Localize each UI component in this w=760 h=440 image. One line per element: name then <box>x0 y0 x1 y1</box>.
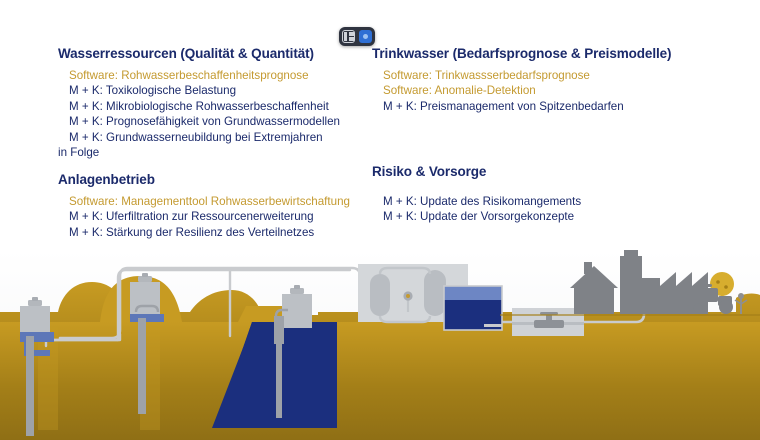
well-shaft <box>276 340 282 418</box>
water-supply-illustration <box>0 250 760 440</box>
list-item: M + K: Uferfiltration zur Ressourcenerwe… <box>69 209 350 224</box>
ground-mid-mass <box>337 322 400 440</box>
list-item: Software: Trinkwassserbedarfsprognose <box>383 68 671 83</box>
list-item: M + K: Stärkung der Resilienz des Vertei… <box>69 225 350 240</box>
list-item: M + K: Toxikologische Belastung <box>69 83 340 98</box>
list-item: M + K: Mikrobiologische Rohwasserbeschaf… <box>69 99 340 114</box>
floating-toolbar[interactable] <box>339 27 375 46</box>
section-title: Anlagenbetrieb <box>58 172 350 187</box>
section-lines: Software: Managementtool Rohwasserbewirt… <box>69 194 350 240</box>
well-riser <box>274 316 284 344</box>
horizon-line <box>500 314 760 316</box>
list-item: M + K: Update der Vorsorgekonzepte <box>383 209 581 224</box>
well-cap-top <box>32 297 38 301</box>
list-item: Software: Rohwasserbeschaffenheitsprogno… <box>69 68 340 83</box>
section-trinkwasser: Trinkwasser (Bedarfsprognose & Preismode… <box>372 46 671 114</box>
list-item: Software: Anomalie-Detektion <box>383 83 671 98</box>
valve-pipe-out <box>564 322 584 325</box>
plant-tank-left <box>370 274 390 316</box>
valve-pipe-in <box>512 322 534 325</box>
list-item: M + K: Grundwasserneubildung bei Extremj… <box>69 130 340 145</box>
list-item: M + K: Preismanagement von Spitzenbedarf… <box>383 99 671 114</box>
screenshot-root: Wasserressourcen (Qualität & Quantität) … <box>0 0 760 440</box>
section-lines: M + K: Update des Risikomangements M + K… <box>383 194 581 225</box>
well-house <box>130 282 160 316</box>
valve-chamber <box>512 308 584 336</box>
list-item: M + K: Update des Risikomangements <box>383 194 581 209</box>
valve-body <box>534 320 564 328</box>
reservoir-outlet <box>484 324 502 327</box>
section-title: Trinkwasser (Bedarfsprognose & Preismode… <box>372 46 671 61</box>
section-risiko-vorsorge: Risiko & Vorsorge M + K: Update des Risi… <box>372 164 581 225</box>
section-lines: Software: Rohwasserbeschaffenheitsprogno… <box>69 68 340 160</box>
well-shaft <box>26 336 34 436</box>
well-cap-top <box>294 285 300 289</box>
section-title: Wasserressourcen (Qualität & Quantität) <box>58 46 340 61</box>
list-item: M + K: Prognosefähigkeit von Grundwasser… <box>69 114 340 129</box>
record-button-icon[interactable] <box>359 30 372 43</box>
plant-tank-right <box>424 270 446 316</box>
well-house <box>20 306 50 336</box>
reservoir-tank <box>444 286 502 330</box>
well-pipe-band <box>20 332 54 342</box>
list-item: Software: Managementtool Rohwasserbewirt… <box>69 194 350 209</box>
well-cap-top <box>142 273 148 277</box>
layout-panel-icon[interactable] <box>342 30 355 43</box>
section-wasserressourcen: Wasserressourcen (Qualität & Quantität) … <box>58 46 340 160</box>
section-anlagenbetrieb: Anlagenbetrieb Software: Managementtool … <box>58 172 350 240</box>
ground-right-mass <box>400 322 760 440</box>
plant-pump-indicator <box>406 294 410 298</box>
list-item: in Folge <box>58 145 340 160</box>
section-title: Risiko & Vorsorge <box>372 164 581 179</box>
well-shaft <box>138 318 146 414</box>
section-lines: Software: Trinkwassserbedarfsprognose So… <box>383 68 671 114</box>
well-pipe-band <box>130 314 164 322</box>
